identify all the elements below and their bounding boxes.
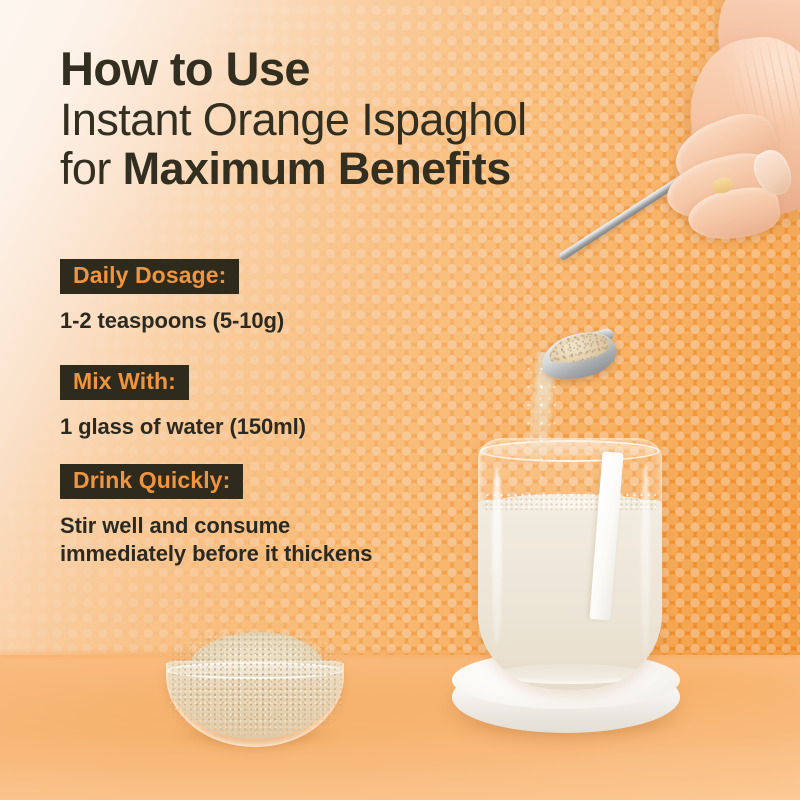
section-drink-quickly: Drink Quickly: Stir well and consume imm… bbox=[60, 464, 372, 567]
poster-canvas: How to Use Instant Orange Ispaghol for M… bbox=[0, 0, 800, 800]
headline-line-1: How to Use bbox=[60, 46, 700, 93]
badge-daily-dosage: Daily Dosage: bbox=[60, 259, 239, 294]
value-drink-quickly: Stir well and consume immediately before… bbox=[60, 512, 372, 567]
hand bbox=[640, 0, 800, 320]
badge-drink-quickly: Drink Quickly: bbox=[60, 464, 243, 499]
badge-mix-with: Mix With: bbox=[60, 365, 189, 400]
section-mix-with: Mix With: 1 glass of water (150ml) bbox=[60, 365, 306, 441]
powder-grain-texture bbox=[170, 632, 342, 736]
headline-line-3-prefix: for bbox=[60, 143, 123, 194]
headline-line-3: for Maximum Benefits bbox=[60, 147, 700, 192]
glass-base bbox=[496, 664, 644, 684]
headline-line-3-emphasis: Maximum Benefits bbox=[123, 143, 511, 194]
wall-surface-seam bbox=[0, 652, 800, 659]
glass-highlight-right bbox=[641, 464, 650, 656]
value-daily-dosage: 1-2 teaspoons (5-10g) bbox=[60, 307, 284, 335]
powder-stream-grains bbox=[520, 360, 576, 495]
page-title: How to Use Instant Orange Ispaghol for M… bbox=[60, 46, 700, 192]
glass-highlight-left bbox=[492, 468, 502, 646]
value-mix-with: 1 glass of water (150ml) bbox=[60, 413, 306, 441]
glass-liquid bbox=[478, 500, 662, 690]
section-daily-dosage: Daily Dosage: 1-2 teaspoons (5-10g) bbox=[60, 259, 284, 335]
headline-line-2: Instant Orange Ispaghol bbox=[60, 98, 700, 143]
